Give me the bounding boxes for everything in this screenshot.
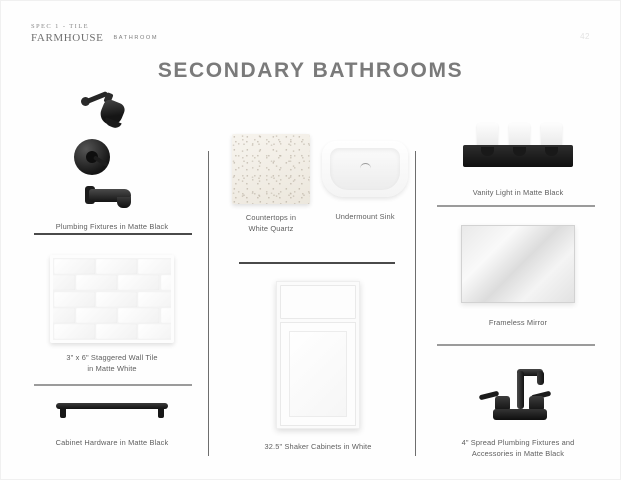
centerset-faucet-icon bbox=[473, 363, 563, 429]
divider-right-2 bbox=[437, 344, 595, 346]
tub-spout-icon bbox=[81, 183, 139, 213]
item-caption-line2: Accessories in Matte Black bbox=[429, 448, 607, 459]
shower-head-icon bbox=[75, 89, 135, 137]
item-plumbing-fixtures: Plumbing Fixtures in Matte Black bbox=[23, 89, 201, 232]
item-undermount-sink: Undermount Sink bbox=[317, 141, 413, 222]
item-countertops: Countertops in White Quartz bbox=[223, 134, 319, 234]
divider-left-2 bbox=[34, 384, 192, 386]
item-vanity-light: Vanity Light in Matte Black bbox=[429, 119, 607, 198]
column-divider-left bbox=[208, 151, 209, 456]
brand-block: SPEC 1 - TILE FARMHOUSE BATHROOM bbox=[31, 21, 158, 45]
quartz-swatch-icon bbox=[232, 134, 310, 204]
brand-name: FARMHOUSE bbox=[31, 32, 103, 45]
item-spread-faucet: 4" Spread Plumbing Fixtures and Accessor… bbox=[429, 363, 607, 459]
bar-pull-icon bbox=[56, 399, 168, 421]
brand-subtitle: BATHROOM bbox=[113, 32, 158, 45]
item-caption: 32.5" Shaker Cabinets in White bbox=[223, 441, 413, 452]
item-caption: Undermount Sink bbox=[317, 211, 413, 222]
spec-sheet-page: SPEC 1 - TILE FARMHOUSE BATHROOM 42 SECO… bbox=[0, 0, 621, 480]
undermount-sink-icon bbox=[322, 141, 408, 199]
frameless-mirror-icon bbox=[461, 225, 575, 303]
item-caption-line2: in Matte White bbox=[23, 363, 201, 374]
item-caption-line1: Countertops in bbox=[223, 212, 319, 223]
item-caption-line1: 4" Spread Plumbing Fixtures and bbox=[429, 437, 607, 448]
divider-middle-1 bbox=[239, 262, 395, 264]
spec-label: SPEC 1 - TILE bbox=[31, 21, 158, 32]
item-caption: Plumbing Fixtures in Matte Black bbox=[23, 221, 201, 232]
item-cabinet-hardware: Cabinet Hardware in Matte Black bbox=[23, 399, 201, 448]
item-shaker-cabinets: 32.5" Shaker Cabinets in White bbox=[223, 281, 413, 452]
item-caption: Frameless Mirror bbox=[429, 317, 607, 328]
item-caption-line1: 3" x 6" Staggered Wall Tile bbox=[23, 352, 201, 363]
item-caption-line2: White Quartz bbox=[223, 223, 319, 234]
vanity-light-icon bbox=[459, 119, 577, 179]
item-caption: Vanity Light in Matte Black bbox=[429, 187, 607, 198]
page-number: 42 bbox=[580, 32, 590, 41]
shaker-cabinet-icon bbox=[276, 281, 360, 429]
item-wall-tile: 3" x 6" Staggered Wall Tile in Matte Whi… bbox=[23, 255, 201, 374]
item-frameless-mirror: Frameless Mirror bbox=[429, 225, 607, 328]
divider-right-1 bbox=[437, 205, 595, 207]
shower-valve-icon bbox=[69, 137, 115, 183]
page-title: SECONDARY BATHROOMS bbox=[1, 59, 620, 83]
item-caption: Cabinet Hardware in Matte Black bbox=[23, 437, 201, 448]
column-divider-right bbox=[415, 151, 416, 456]
divider-left-1 bbox=[34, 233, 192, 235]
subway-tile-icon bbox=[50, 255, 174, 343]
